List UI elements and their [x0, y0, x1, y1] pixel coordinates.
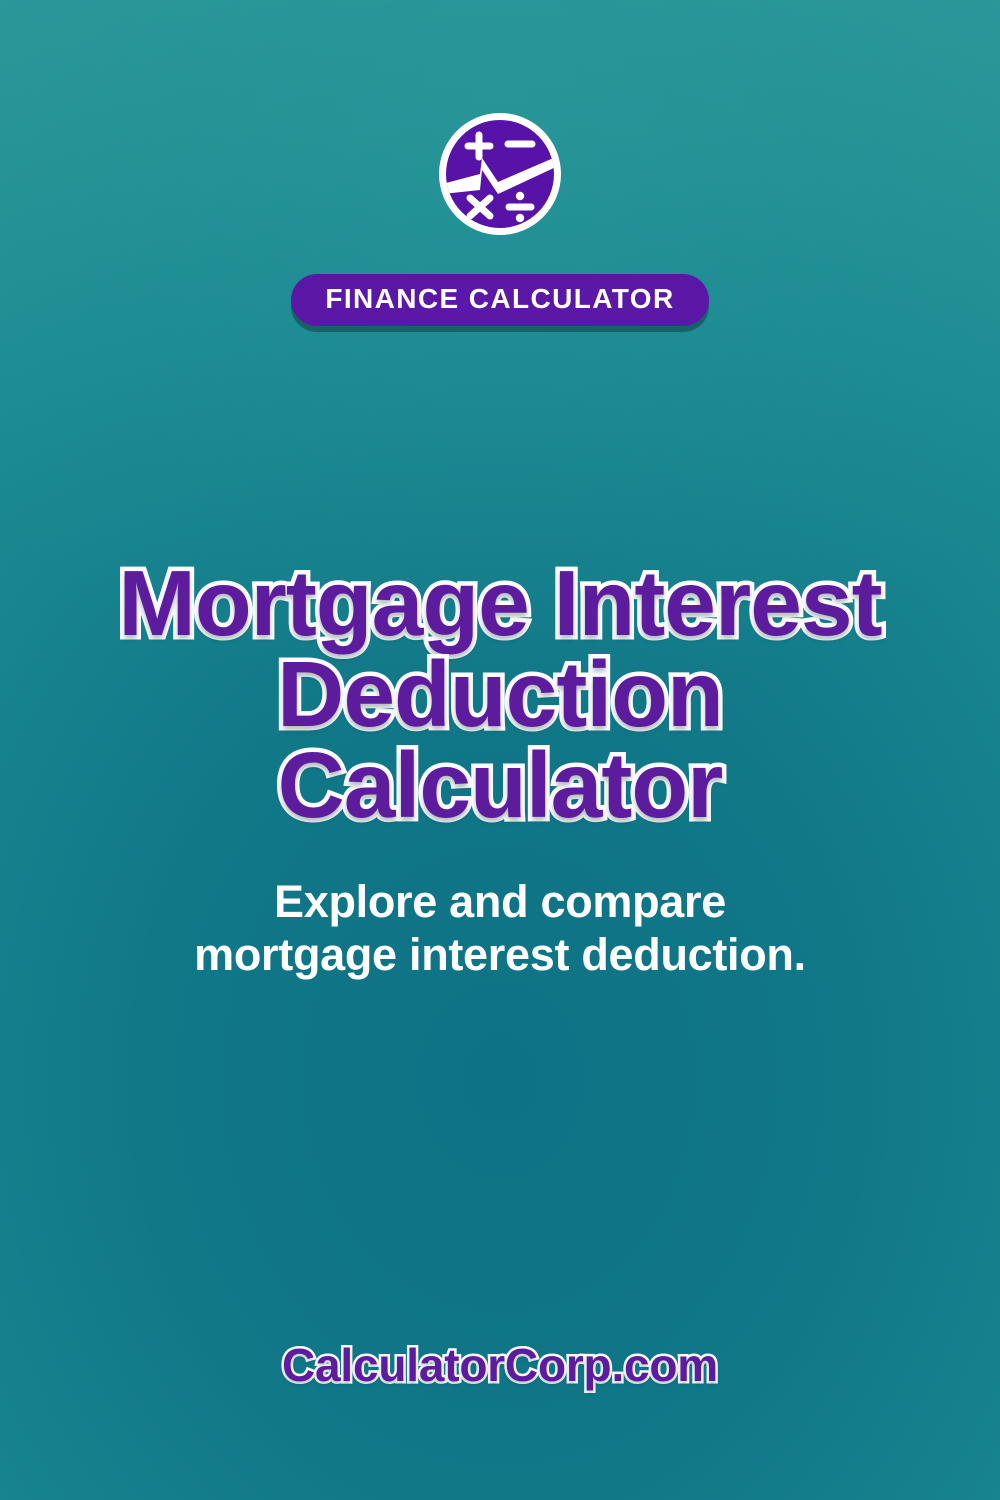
category-badge-label: FINANCE CALCULATOR: [325, 285, 674, 313]
category-badge: FINANCE CALCULATOR: [291, 274, 708, 326]
page-title: Mortgage Interest Deduction Calculator: [20, 558, 980, 831]
page-title-line-1: Mortgage Interest: [20, 558, 980, 649]
brand-logo: [439, 113, 561, 235]
footer-site-url[interactable]: CalculatorCorp.com: [282, 1338, 718, 1392]
page-subtitle-line-2: mortgage interest deduction.: [50, 928, 950, 981]
page-subtitle: Explore and compare mortgage interest de…: [50, 875, 950, 981]
category-badge-pill: FINANCE CALCULATOR: [291, 274, 708, 326]
logo-disc: [446, 120, 554, 228]
footer: CalculatorCorp.com: [0, 1338, 1000, 1392]
calculator-operators-circle-icon: [446, 120, 554, 228]
page-subtitle-line-1: Explore and compare: [50, 875, 950, 928]
poster-root: FINANCE CALCULATOR Mortgage Interest Ded…: [0, 0, 1000, 1500]
page-title-line-2: Deduction: [20, 649, 980, 740]
page-title-line-3: Calculator: [20, 740, 980, 831]
